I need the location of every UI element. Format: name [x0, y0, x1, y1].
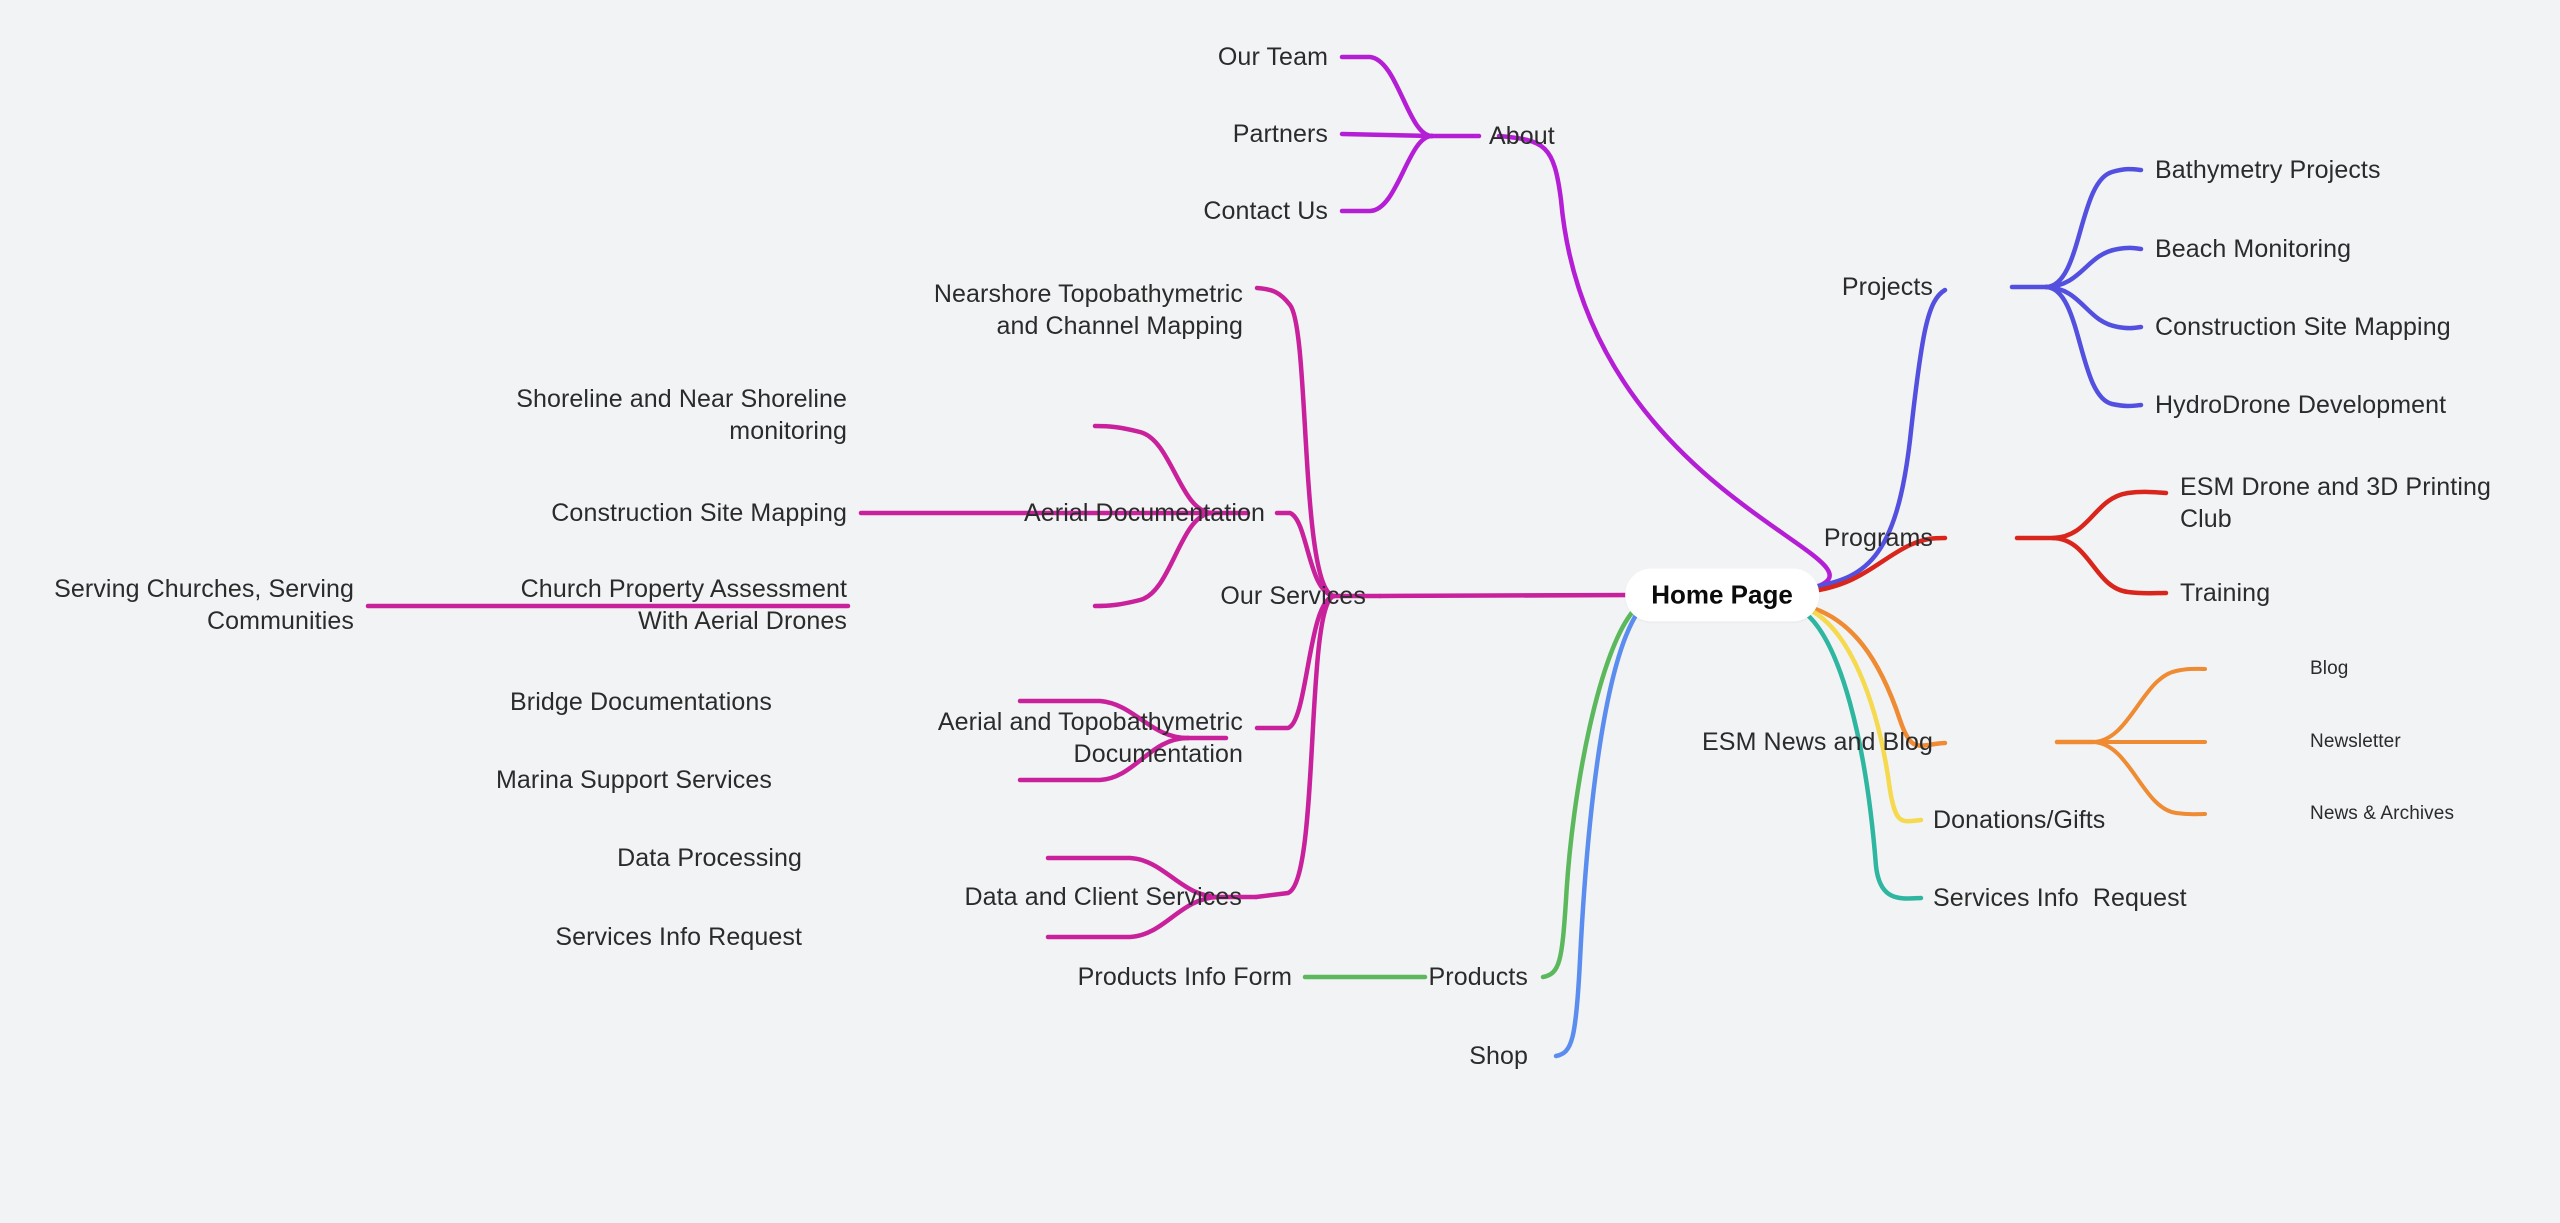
connector-news-archives — [2093, 742, 2205, 814]
connector-root-donations — [1806, 608, 1921, 821]
node-aerial-topo[interactable]: Aerial and Topobathymetric Documentation — [938, 706, 1243, 770]
node-data-client[interactable]: Data and Client Services — [964, 881, 1242, 913]
connector-programs-club — [2053, 492, 2166, 538]
node-training[interactable]: Training — [2180, 577, 2270, 609]
node-services-info[interactable]: Services Info Request — [1933, 882, 2187, 914]
connector-projects-beach — [2046, 248, 2141, 287]
connector-about-our-team — [1342, 57, 1432, 136]
node-data-processing[interactable]: Data Processing — [617, 842, 802, 874]
connector-root-about — [1499, 136, 1830, 588]
node-bridge-doc[interactable]: Bridge Documentations — [510, 686, 772, 718]
connector-about-partners — [1342, 134, 1432, 136]
node-our-services[interactable]: Our Services — [1220, 580, 1366, 612]
connector-root-products — [1543, 608, 1636, 977]
connector-news-blog — [2093, 669, 2205, 742]
connector-services-nearshore — [1257, 288, 1334, 596]
node-newsletter[interactable]: Newsletter — [2310, 730, 2401, 754]
node-services-info-req[interactable]: Services Info Request — [555, 921, 802, 953]
node-construction-ad[interactable]: Construction Site Mapping — [551, 497, 847, 529]
node-donations[interactable]: Donations/Gifts — [1933, 804, 2105, 836]
node-nearshore[interactable]: Nearshore Topobathymetric and Channel Ma… — [934, 278, 1243, 342]
node-esm-news[interactable]: ESM News and Blog — [1702, 726, 1933, 758]
node-esm-club[interactable]: ESM Drone and 3D Printing Club — [2180, 471, 2491, 535]
connector-programs-training — [2053, 538, 2166, 593]
node-programs[interactable]: Programs — [1824, 522, 1933, 554]
node-serving-churches[interactable]: Serving Churches, Serving Communities — [54, 573, 354, 637]
root-node-home-page[interactable]: Home Page — [1625, 569, 1819, 622]
node-products[interactable]: Products — [1429, 961, 1528, 993]
connector-root-services — [1380, 595, 1636, 596]
node-shop[interactable]: Shop — [1469, 1040, 1528, 1072]
node-bathymetry[interactable]: Bathymetry Projects — [2155, 154, 2381, 186]
node-partners[interactable]: Partners — [1233, 118, 1328, 150]
node-church-property[interactable]: Church Property Assessment With Aerial D… — [521, 573, 847, 637]
connector-root-news — [1806, 606, 1945, 746]
node-products-info[interactable]: Products Info Form — [1078, 961, 1292, 993]
node-beach-monitoring[interactable]: Beach Monitoring — [2155, 233, 2351, 265]
connector-root-shop — [1556, 612, 1638, 1056]
node-projects[interactable]: Projects — [1842, 271, 1933, 303]
node-our-team[interactable]: Our Team — [1218, 41, 1328, 73]
connector-about-contact — [1342, 136, 1432, 211]
connector-services-aerialtopo — [1257, 596, 1334, 728]
connector-services-dataclient — [1256, 596, 1334, 897]
connector-projects-construction — [2046, 287, 2141, 328]
node-blog[interactable]: Blog — [2310, 657, 2348, 681]
node-news-archives[interactable]: News & Archives — [2310, 802, 2454, 826]
node-aerial-doc[interactable]: Aerial Documentation — [1024, 497, 1265, 529]
connector-projects-bathymetry — [2046, 169, 2141, 287]
mindmap-canvas: AboutOur TeamPartnersContact UsOur Servi… — [0, 0, 2560, 1223]
connector-projects-hydrodrone — [2046, 287, 2141, 406]
node-construction-pr[interactable]: Construction Site Mapping — [2155, 311, 2451, 343]
node-hydrodrone[interactable]: HydroDrone Development — [2155, 389, 2446, 421]
node-shoreline[interactable]: Shoreline and Near Shoreline monitoring — [516, 383, 847, 447]
node-contact-us[interactable]: Contact Us — [1203, 195, 1328, 227]
node-about[interactable]: About — [1489, 120, 1555, 152]
node-marina[interactable]: Marina Support Services — [496, 764, 772, 796]
